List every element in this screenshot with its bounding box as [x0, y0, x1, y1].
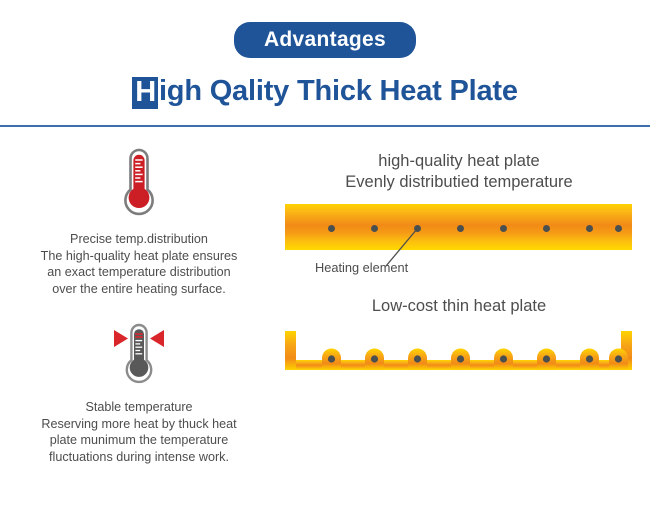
feature-precise-line-2: an exact temperature distribution — [12, 264, 266, 281]
feature-block-precise: Precise temp.distribution The high-quali… — [0, 127, 278, 297]
thick-plate-caption-line-1: Evenly distributied temperature — [278, 172, 640, 193]
arrow-left-icon — [114, 330, 128, 347]
features-column: Precise temp.distribution The high-quali… — [0, 127, 278, 510]
thin-plate-diagram: Low-cost thin heat plate — [278, 250, 650, 383]
feature-stable-line-3: fluctuations during intense work. — [12, 449, 266, 466]
thin-plate-graphic — [278, 327, 650, 383]
page-title: High Qality Thick Heat Plate — [0, 76, 650, 108]
thick-plate-diagram: high-quality heat plate Evenly distribut… — [278, 127, 650, 250]
feature-precise-line-3: over the entire heating surface. — [12, 281, 266, 298]
feature-block-stable: Stable temperature Reserving more heat b… — [0, 297, 278, 465]
thin-plate-caption-line-0: Low-cost thin heat plate — [278, 296, 640, 317]
advantages-badge: Advantages — [234, 22, 416, 58]
thick-plate-caption-line-0: high-quality heat plate — [278, 151, 640, 172]
thick-plate-caption: high-quality heat plate Evenly distribut… — [278, 151, 650, 193]
arrow-right-icon — [150, 330, 164, 347]
thick-plate-graphic: Heating element — [278, 204, 650, 250]
feature-precise-text: Precise temp.distribution The high-quali… — [0, 231, 278, 297]
title-remainder: igh Qality Thick Heat Plate — [159, 75, 518, 107]
feature-precise-line-0: Precise temp.distribution — [12, 231, 266, 248]
feature-stable-line-2: plate munimum the temperature — [12, 432, 266, 449]
diagrams-column: high-quality heat plate Evenly distribut… — [278, 127, 650, 510]
feature-stable-text: Stable temperature Reserving more heat b… — [0, 399, 278, 465]
page-header: Advantages High Qality Thick Heat Plate — [0, 0, 650, 108]
content-area: Precise temp.distribution The high-quali… — [0, 127, 650, 510]
thin-plate-body — [278, 327, 650, 383]
thermometer-stable-icon — [102, 323, 176, 387]
thermometer-red-icon-wrap — [0, 147, 278, 219]
feature-precise-line-1: The high-quality heat plate ensures — [12, 248, 266, 265]
title-drop-cap: H — [132, 77, 158, 109]
thin-plate-caption: Low-cost thin heat plate — [278, 296, 650, 317]
thermometer-red-icon — [116, 147, 162, 219]
feature-stable-line-1: Reserving more heat by thuck heat — [12, 416, 266, 433]
feature-stable-line-0: Stable temperature — [12, 399, 266, 416]
thermometer-stable-icon-wrap — [0, 323, 278, 387]
